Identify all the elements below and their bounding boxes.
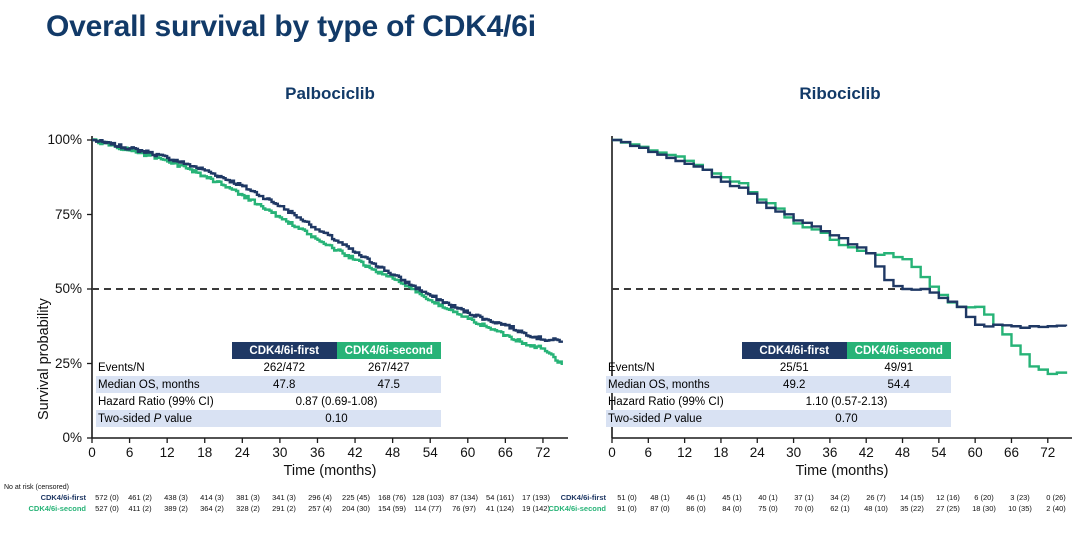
stats-table-ribociclib: CDK4/6i-first CDK4/6i-second Events/N 25… [606,342,951,427]
risk-value: 26 (7) [858,492,894,503]
x-tick-label: 48 [378,445,408,460]
stats-pvalue: 0.70 [742,410,951,427]
panel-title-palbociclib: Palbociclib [90,84,570,104]
risk-value: 76 (97) [446,503,482,514]
stats-label-pvalue: Two-sided P value [606,410,742,427]
x-tick-label: 12 [670,445,700,460]
risk-table: CDK4/6i-first51 (0)48 (1)46 (1)45 (1)40 … [516,492,1074,514]
x-tick-label: 42 [340,445,370,460]
risk-row-first: CDK4/6i-first572 (0)461 (2)438 (3)414 (3… [4,492,554,503]
km-curve-second [612,140,1066,374]
risk-value: 411 (2) [122,503,158,514]
risk-value: 62 (1) [822,503,858,514]
risk-value: 35 (22) [894,503,930,514]
risk-value: 51 (0) [612,492,642,503]
table-row: Hazard Ratio (99% CI) 1.10 (0.57-2.13) [606,393,951,410]
stats-hazard-ratio: 1.10 (0.57-2.13) [742,393,951,410]
risk-value: 84 (0) [714,503,750,514]
stats-label-pvalue: Two-sided P value [96,410,232,427]
risk-row-label: CDK4/6i-second [4,503,92,514]
km-curve-second [92,139,562,365]
risk-value: 2 (40) [1038,503,1074,514]
risk-value: 3 (23) [1002,492,1038,503]
stats-pvalue: 0.10 [232,410,441,427]
p-suffix: value [161,413,192,425]
risk-value: 86 (0) [678,503,714,514]
risk-value: 48 (10) [858,503,894,514]
risk-value: 54 (161) [482,492,518,503]
x-tick-label: 24 [227,445,257,460]
risk-value: 225 (45) [338,492,374,503]
y-tick-label: 75% [36,207,82,222]
risk-value: 12 (16) [930,492,966,503]
risk-value: 37 (1) [786,492,822,503]
risk-row-first: CDK4/6i-first51 (0)48 (1)46 (1)45 (1)40 … [516,492,1074,503]
stats-median-first: 49.2 [742,376,847,393]
risk-value: 75 (0) [750,503,786,514]
x-tick-label: 12 [152,445,182,460]
y-axis-title: Survival probability [36,298,52,420]
risk-value: 461 (2) [122,492,158,503]
risk-value: 296 (4) [302,492,338,503]
risk-value: 34 (2) [822,492,858,503]
stats-median-second: 47.5 [337,376,442,393]
p-suffix: value [671,413,702,425]
x-tick-label: 36 [815,445,845,460]
x-tick-label: 60 [453,445,483,460]
risk-value: 341 (3) [266,492,302,503]
stats-median-second: 54.4 [847,376,952,393]
stats-label-median: Median OS, months [606,376,742,393]
x-tick-label: 60 [960,445,990,460]
risk-value: 128 (103) [410,492,446,503]
risk-row-label: CDK4/6i-first [516,492,612,503]
p-prefix: Two-sided [608,413,664,425]
risk-value: 572 (0) [92,492,122,503]
x-tick-label: 36 [302,445,332,460]
x-tick-label: 18 [190,445,220,460]
stats-corner-cell [606,342,742,359]
risk-value: 154 (59) [374,503,410,514]
stats-median-first: 47.8 [232,376,337,393]
risk-value: 46 (1) [678,492,714,503]
x-tick-label: 6 [115,445,145,460]
x-tick-label: 18 [706,445,736,460]
risk-value: 364 (2) [194,503,230,514]
legend-second-header: CDK4/6i-second [847,342,952,359]
risk-value: 389 (2) [158,503,194,514]
stats-table-palbociclib: CDK4/6i-first CDK4/6i-second Events/N 26… [96,342,441,427]
x-tick-label: 72 [1033,445,1063,460]
x-tick-label: 42 [851,445,881,460]
x-tick-label: 0 [77,445,107,460]
table-row: Median OS, months 47.8 47.5 [96,376,441,393]
table-row: Hazard Ratio (99% CI) 0.87 (0.69-1.08) [96,393,441,410]
km-plot-ribociclib: 061218243036424854606672Time (months) [580,130,1080,480]
risk-value: 414 (3) [194,492,230,503]
legend-first-header: CDK4/6i-first [232,342,337,359]
risk-value: 91 (0) [612,503,642,514]
y-tick-label: 0% [36,430,82,445]
numbers-at-risk-ribociclib: CDK4/6i-first51 (0)48 (1)46 (1)45 (1)40 … [516,484,1076,514]
risk-value: 114 (77) [410,503,446,514]
x-axis-title: Time (months) [92,463,568,479]
risk-value: 257 (4) [302,503,338,514]
numbers-at-risk-palbociclib: No at risk (censored) CDK4/6i-first572 (… [4,484,570,514]
risk-value: 45 (1) [714,492,750,503]
risk-row-second: CDK4/6i-second527 (0)411 (2)389 (2)364 (… [4,503,554,514]
x-tick-label: 24 [742,445,772,460]
risk-value: 18 (30) [966,503,1002,514]
risk-value: 10 (35) [1002,503,1038,514]
legend-second-header: CDK4/6i-second [337,342,442,359]
stats-label-events: Events/N [96,359,232,376]
stats-label-hr: Hazard Ratio (99% CI) [96,393,232,410]
x-tick-label: 66 [490,445,520,460]
stats-events-second: 49/91 [847,359,952,376]
risk-caption: No at risk (censored) [4,484,570,491]
km-plot-palbociclib: 061218243036424854606672Time (months)100… [20,130,570,480]
risk-table: CDK4/6i-first572 (0)461 (2)438 (3)414 (3… [4,492,554,514]
x-tick-label: 6 [633,445,663,460]
risk-value: 27 (25) [930,503,966,514]
stats-events-first: 262/472 [232,359,337,376]
risk-value: 41 (124) [482,503,518,514]
x-tick-label: 66 [996,445,1026,460]
stats-label-median: Median OS, months [96,376,232,393]
risk-value: 0 (26) [1038,492,1074,503]
table-row: Two-sided P value 0.70 [606,410,951,427]
risk-value: 87 (0) [642,503,678,514]
risk-value: 328 (2) [230,503,266,514]
risk-value: 438 (3) [158,492,194,503]
x-tick-label: 72 [528,445,558,460]
x-tick-label: 30 [265,445,295,460]
x-tick-label: 48 [888,445,918,460]
risk-value: 168 (76) [374,492,410,503]
risk-row-label: CDK4/6i-second [516,503,612,514]
y-tick-label: 50% [36,281,82,296]
risk-value: 291 (2) [266,503,302,514]
stats-events-second: 267/427 [337,359,442,376]
x-tick-label: 0 [597,445,627,460]
risk-value: 204 (30) [338,503,374,514]
risk-value: 87 (134) [446,492,482,503]
risk-row-second: CDK4/6i-second91 (0)87 (0)86 (0)84 (0)75… [516,503,1074,514]
risk-row-label: CDK4/6i-first [4,492,92,503]
table-row: Events/N 25/51 49/91 [606,359,951,376]
table-row: Median OS, months 49.2 54.4 [606,376,951,393]
stats-hazard-ratio: 0.87 (0.69-1.08) [232,393,441,410]
table-row: Two-sided P value 0.10 [96,410,441,427]
km-curve-first [612,140,1066,328]
km-curve-first [92,140,562,342]
km-curve-svg [20,130,578,484]
p-prefix: Two-sided [98,413,154,425]
risk-value: 6 (20) [966,492,1002,503]
km-curve-svg [580,130,1080,484]
table-row: Events/N 262/472 267/427 [96,359,441,376]
risk-value: 14 (15) [894,492,930,503]
risk-value: 70 (0) [786,503,822,514]
risk-value: 40 (1) [750,492,786,503]
stats-label-events: Events/N [606,359,742,376]
page-title: Overall survival by type of CDK4/6i [46,10,536,44]
legend-first-header: CDK4/6i-first [742,342,847,359]
x-axis-title: Time (months) [612,463,1072,479]
risk-value: 381 (3) [230,492,266,503]
stats-corner-cell [96,342,232,359]
stats-label-hr: Hazard Ratio (99% CI) [606,393,742,410]
risk-value: 48 (1) [642,492,678,503]
table-row-header: CDK4/6i-first CDK4/6i-second [96,342,441,359]
panel-title-ribociclib: Ribociclib [600,84,1080,104]
x-tick-label: 54 [415,445,445,460]
x-tick-label: 54 [924,445,954,460]
x-tick-label: 30 [779,445,809,460]
risk-value: 527 (0) [92,503,122,514]
stats-events-first: 25/51 [742,359,847,376]
table-row-header: CDK4/6i-first CDK4/6i-second [606,342,951,359]
y-tick-label: 100% [36,132,82,147]
